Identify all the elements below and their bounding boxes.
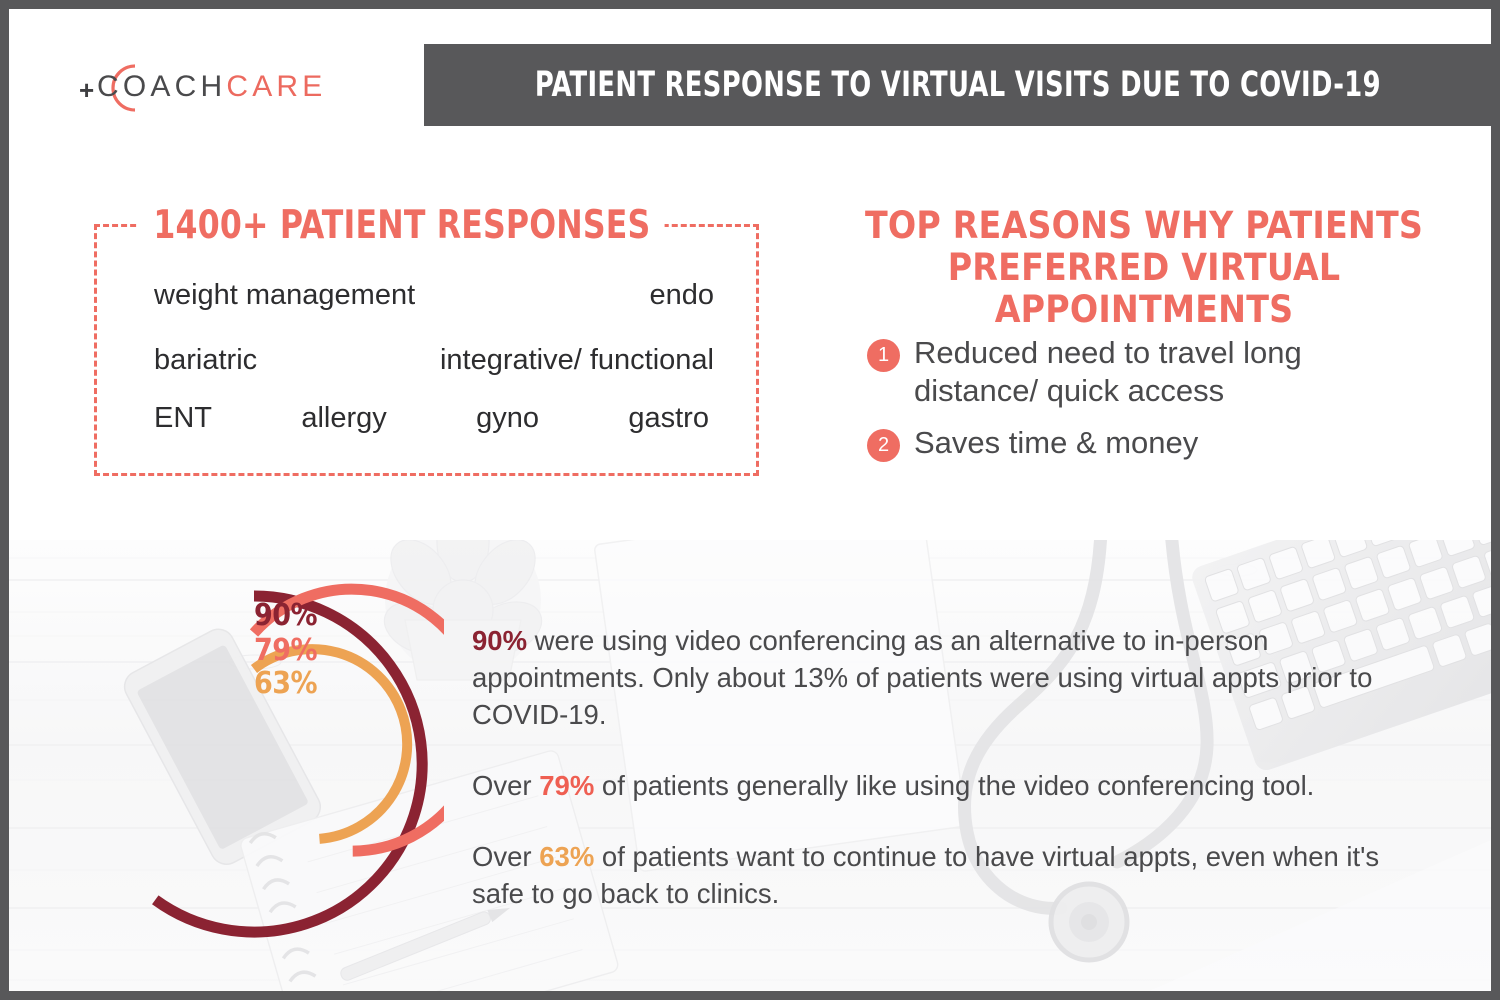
reason-text: Saves time & money: [914, 424, 1198, 462]
arc-label-79: 79%: [254, 636, 317, 666]
stat-highlight: 79%: [539, 770, 594, 801]
logo-word-coach: COACH: [97, 70, 226, 103]
arc-label-90: 90%: [254, 601, 317, 631]
arc-label-63: 63%: [254, 669, 317, 699]
stat-body: were using video conferencing as an alte…: [472, 625, 1372, 730]
infographic-canvas: + COACHCARE PATIENT RESPONSE TO VIRTUAL …: [9, 9, 1491, 991]
stat-highlight: 63%: [539, 841, 594, 872]
specialty-label: allergy: [301, 402, 386, 435]
logo-wordmark: COACHCARE: [97, 69, 327, 105]
specialty-label: ENT: [154, 402, 212, 435]
stat-paragraph: 90% were using video conferencing as an …: [472, 622, 1412, 733]
stat-highlight: 90%: [472, 625, 527, 656]
specialty-row: ENT allergy gyno gastro: [154, 402, 709, 435]
specialty-label: gastro: [628, 402, 709, 435]
reason-number-badge: 1: [867, 339, 900, 372]
stat-body: of patients want to continue to have vir…: [472, 841, 1379, 909]
stat-body: of patients generally like using the vid…: [594, 770, 1314, 801]
specialty-row: weight management endo: [154, 279, 714, 312]
reason-text: Reduced need to travel long distance/ qu…: [914, 334, 1427, 410]
stat-paragraph: Over 79% of patients generally like usin…: [472, 767, 1412, 804]
stat-paragraph: Over 63% of patients want to continue to…: [472, 838, 1412, 912]
specialty-row: bariatric integrative/ functional: [154, 344, 714, 377]
list-item: 1 Reduced need to travel long distance/ …: [867, 334, 1427, 410]
logo-plus-icon: +: [79, 77, 94, 103]
top-reasons-heading: TOP REASONS WHY PATIENTS PREFERRED VIRTU…: [864, 205, 1424, 331]
statistics-paragraphs: 90% were using video conferencing as an …: [472, 622, 1412, 946]
logo-word-care: CARE: [226, 70, 326, 103]
list-item: 2 Saves time & money: [867, 424, 1427, 462]
specialty-label: gyno: [476, 402, 539, 435]
specialty-label: endo: [649, 279, 714, 312]
specialty-label: bariatric: [154, 344, 257, 377]
page-title: PATIENT RESPONSE TO VIRTUAL VISITS DUE T…: [534, 65, 1380, 105]
specialty-label: integrative/ functional: [440, 344, 714, 377]
patient-responses-heading: 1400+ PATIENT RESPONSES: [139, 205, 665, 247]
header-bar: PATIENT RESPONSE TO VIRTUAL VISITS DUE T…: [424, 44, 1491, 126]
coachcare-logo: + COACHCARE: [79, 57, 369, 119]
reason-number-badge: 2: [867, 429, 900, 462]
stat-prefix: Over: [472, 770, 539, 801]
top-reasons-heading-line2: PREFERRED VIRTUAL APPOINTMENTS: [864, 247, 1424, 331]
top-reasons-heading-line1: TOP REASONS WHY PATIENTS: [864, 205, 1424, 247]
specialty-label: weight management: [154, 279, 415, 312]
stat-prefix: Over: [472, 841, 539, 872]
top-reasons-list: 1 Reduced need to travel long distance/ …: [867, 334, 1427, 476]
